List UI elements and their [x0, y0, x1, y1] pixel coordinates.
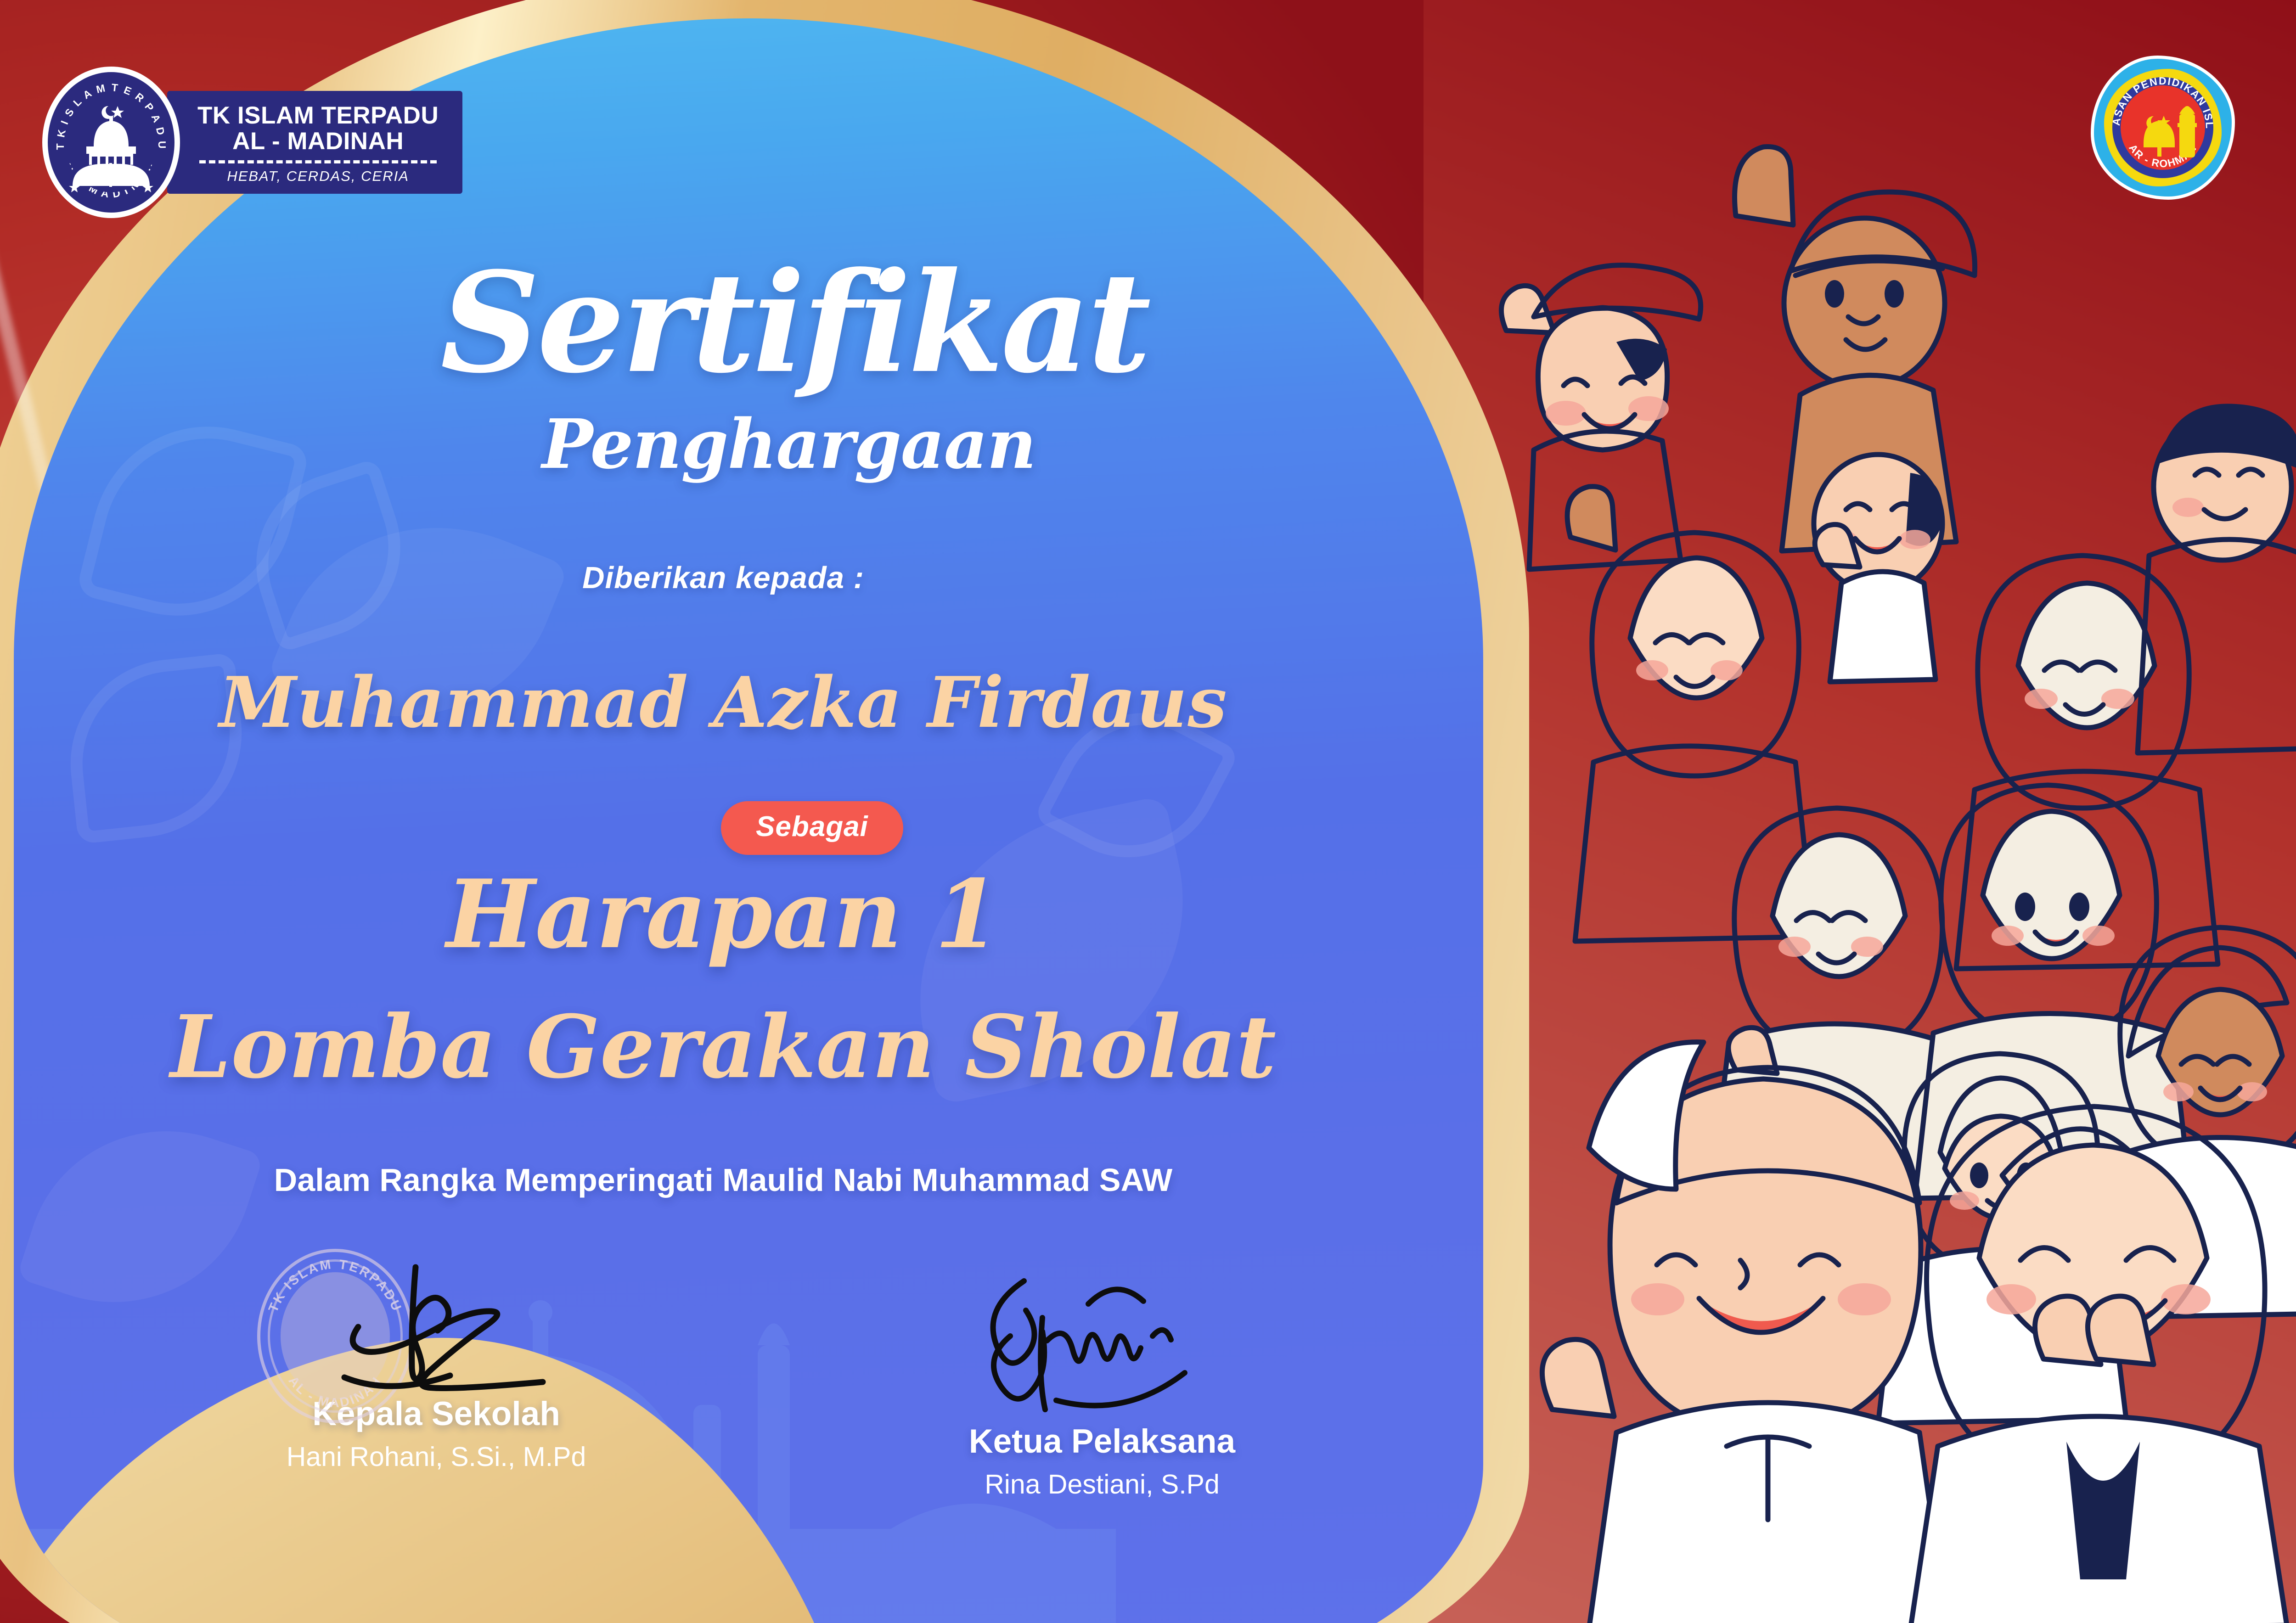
event-subtitle: Dalam Rangka Memperingati Maulid Nabi Mu… — [0, 1162, 1446, 1198]
handwritten-signature-chair — [872, 1267, 1332, 1419]
award-competition: Lomba Gerakan Sholat — [0, 996, 1446, 1098]
certificate-canvas: .ol{stroke:#18224e;stroke-width:11;strok… — [0, 0, 2296, 1623]
signature-block-chair: Ketua Pelaksana Rina Destiani, S.Pd — [872, 1267, 1332, 1500]
signature-art-chair — [872, 1267, 1332, 1419]
signature-role-chair: Ketua Pelaksana — [872, 1422, 1332, 1460]
signature-name-principal: Hani Rohani, S.Si., M.Pd — [207, 1441, 666, 1472]
red-backdrop-right — [1424, 0, 2296, 1623]
award-rank: Harapan 1 — [0, 868, 1446, 962]
foundation-mosque-icon — [2094, 59, 2232, 197]
signature-name-chair: Rina Destiani, S.Pd — [872, 1469, 1332, 1500]
sebagai-badge: Sebagai — [721, 801, 903, 855]
certificate-subtitle: Penghargaan — [542, 404, 1322, 484]
foundation-logo: YAYASAN PENDIDIKAN ISLAM AR - ROHMAN — [2094, 59, 2232, 197]
signature-block-principal: TK ISLAM TERPADU AL - MADINAH Kepala Sek… — [207, 1240, 666, 1472]
given-to-label: Diberikan kepada : — [0, 560, 1446, 595]
certificate-title: Sertifikat — [358, 257, 1231, 388]
signature-art-principal: TK ISLAM TERPADU AL - MADINAH — [207, 1240, 666, 1391]
certificate-content: Sertifikat Penghargaan Diberikan kepada … — [0, 0, 1538, 1623]
handwritten-signature-principal — [207, 1240, 666, 1391]
recipient-name: Muhammad Azka Firdaus — [0, 661, 1446, 743]
